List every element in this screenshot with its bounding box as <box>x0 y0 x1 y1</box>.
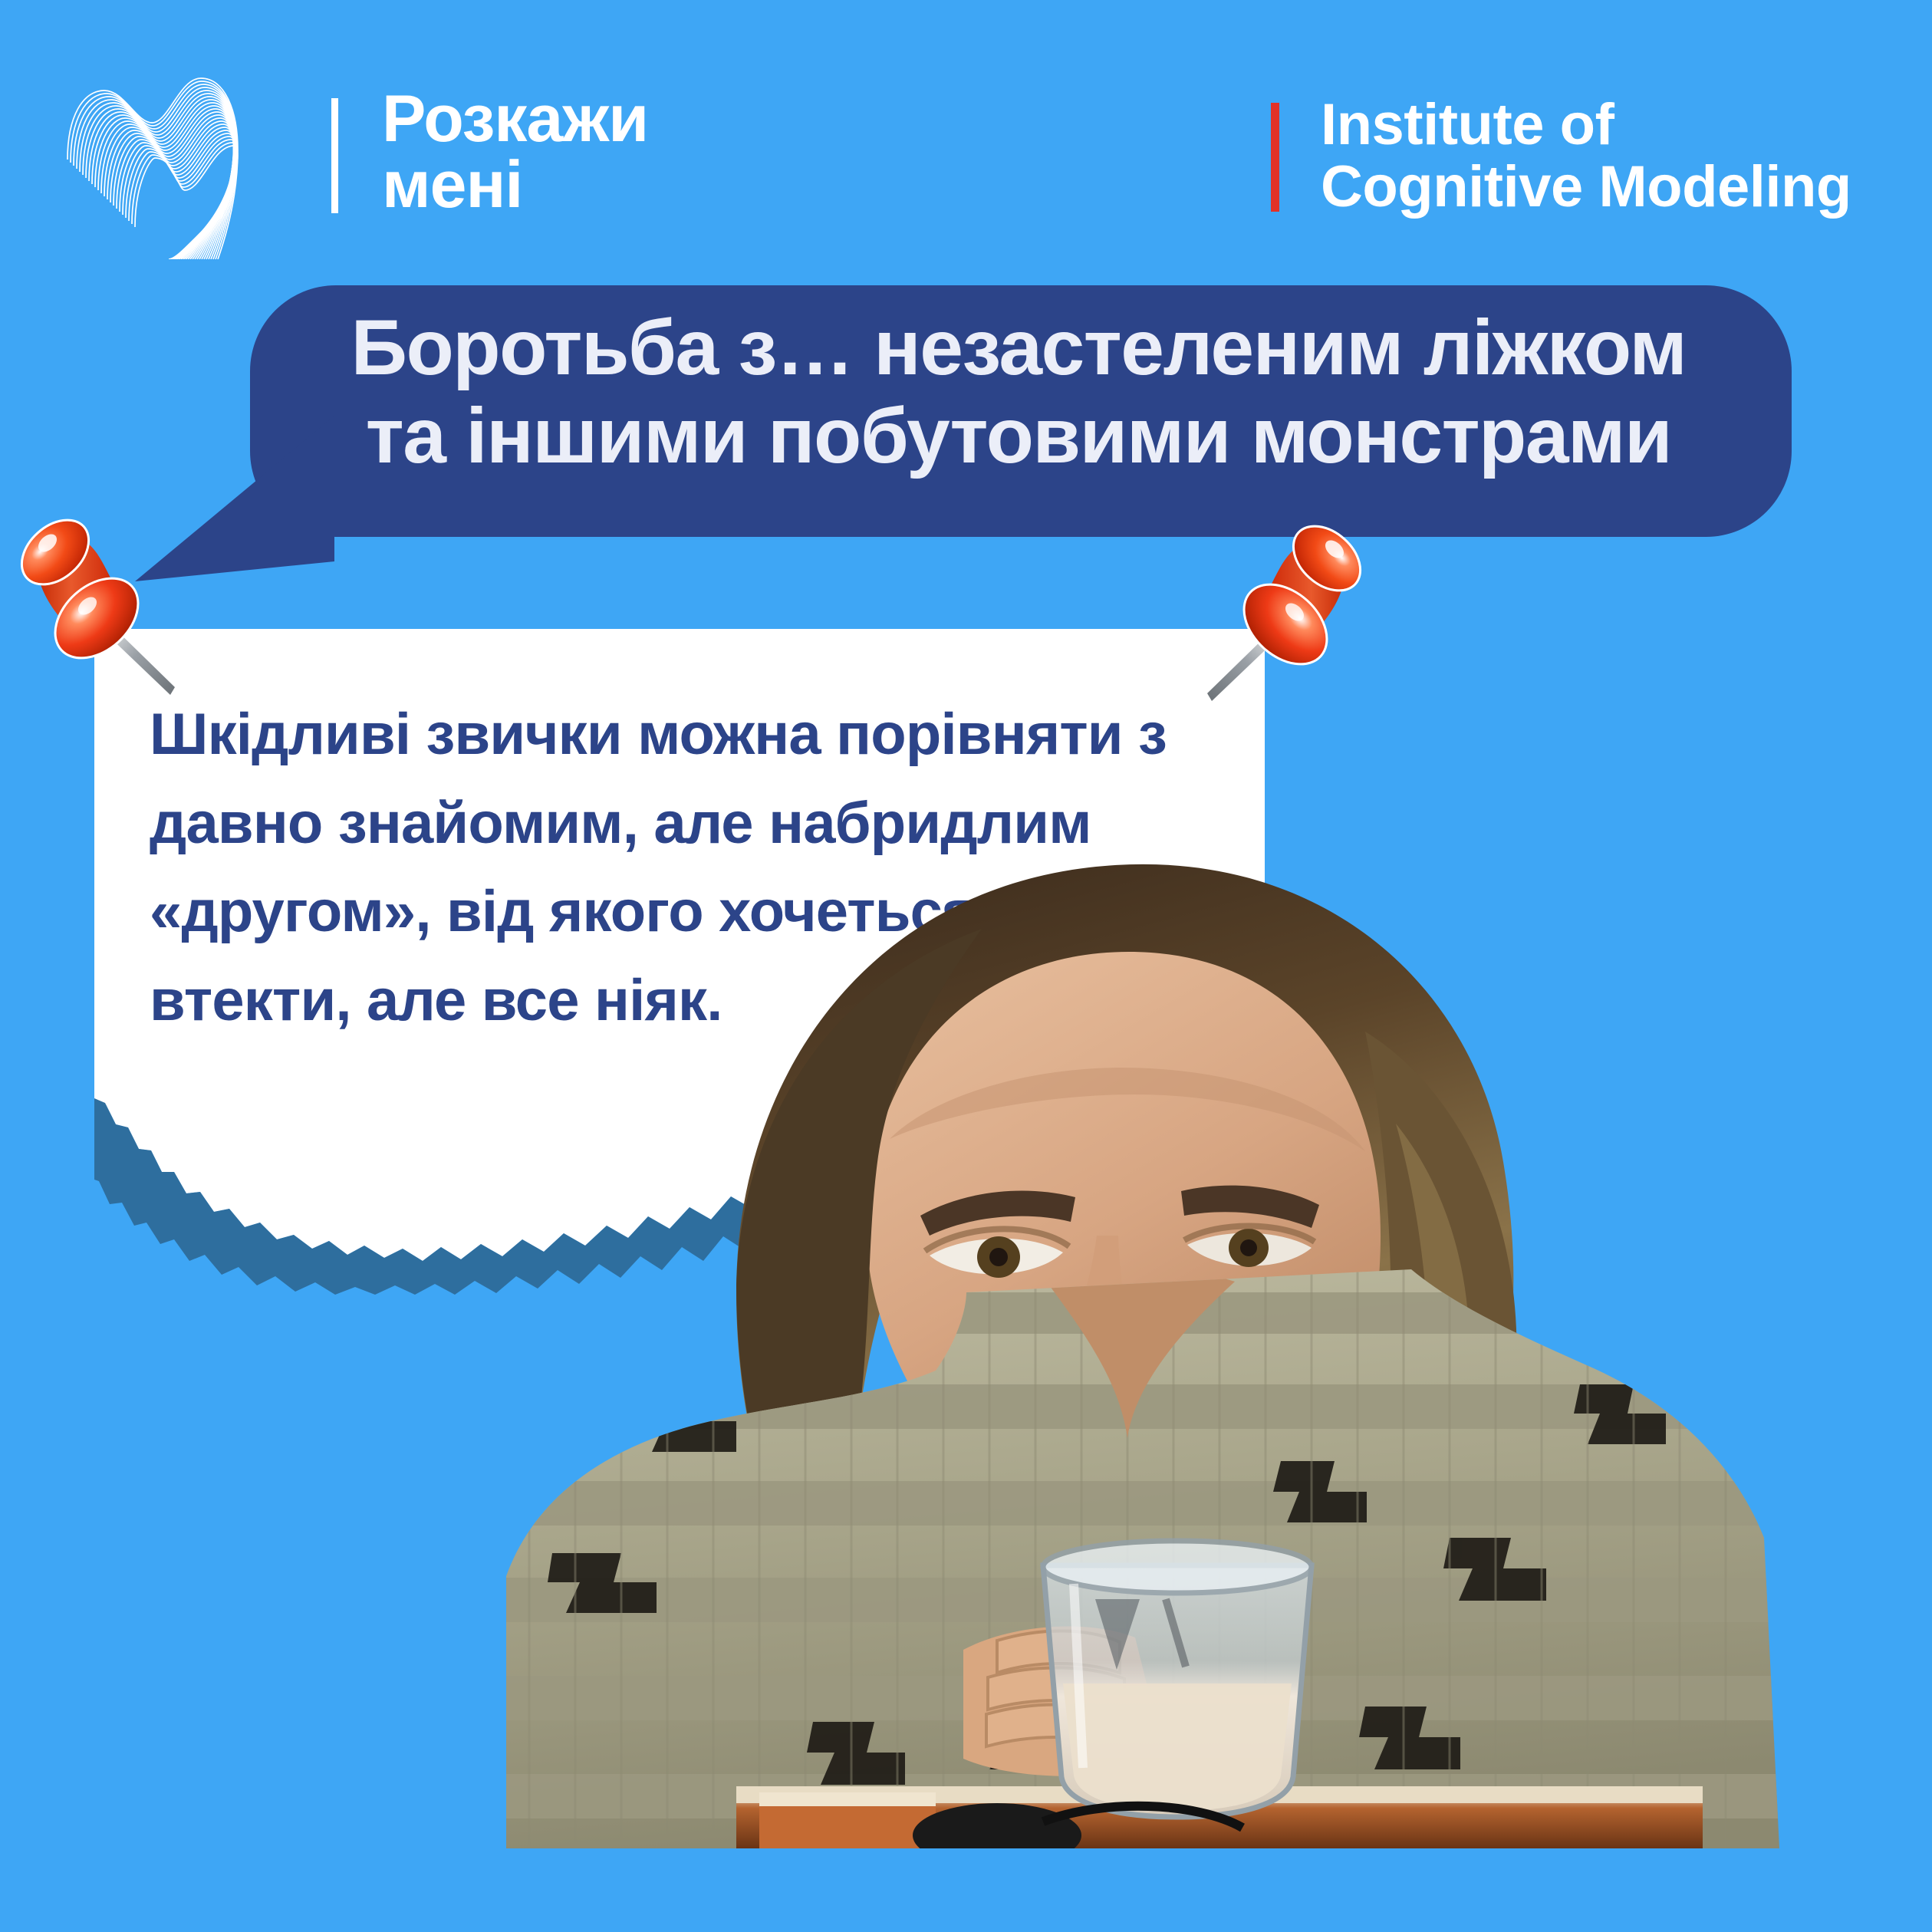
brand-divider <box>331 98 338 213</box>
header: Розкажи мені Institute of Cognitive Mode… <box>0 0 1932 253</box>
institute-divider <box>1271 103 1279 212</box>
pushpin-right-icon <box>1164 512 1371 735</box>
pushpin-left-icon <box>11 506 218 729</box>
poster-title: Боротьба з… незастеленим ліжком та іншим… <box>290 304 1747 481</box>
waveform-logo-icon <box>37 37 290 259</box>
person-photo <box>506 801 1810 1848</box>
brand-name: Розкажи мені <box>382 86 648 218</box>
title-speech-bubble: Боротьба з… незастеленим ліжком та іншим… <box>135 285 1792 592</box>
institute-name: Institute of Cognitive Modeling <box>1321 94 1851 219</box>
poster-canvas: Розкажи мені Institute of Cognitive Mode… <box>0 0 1932 1932</box>
